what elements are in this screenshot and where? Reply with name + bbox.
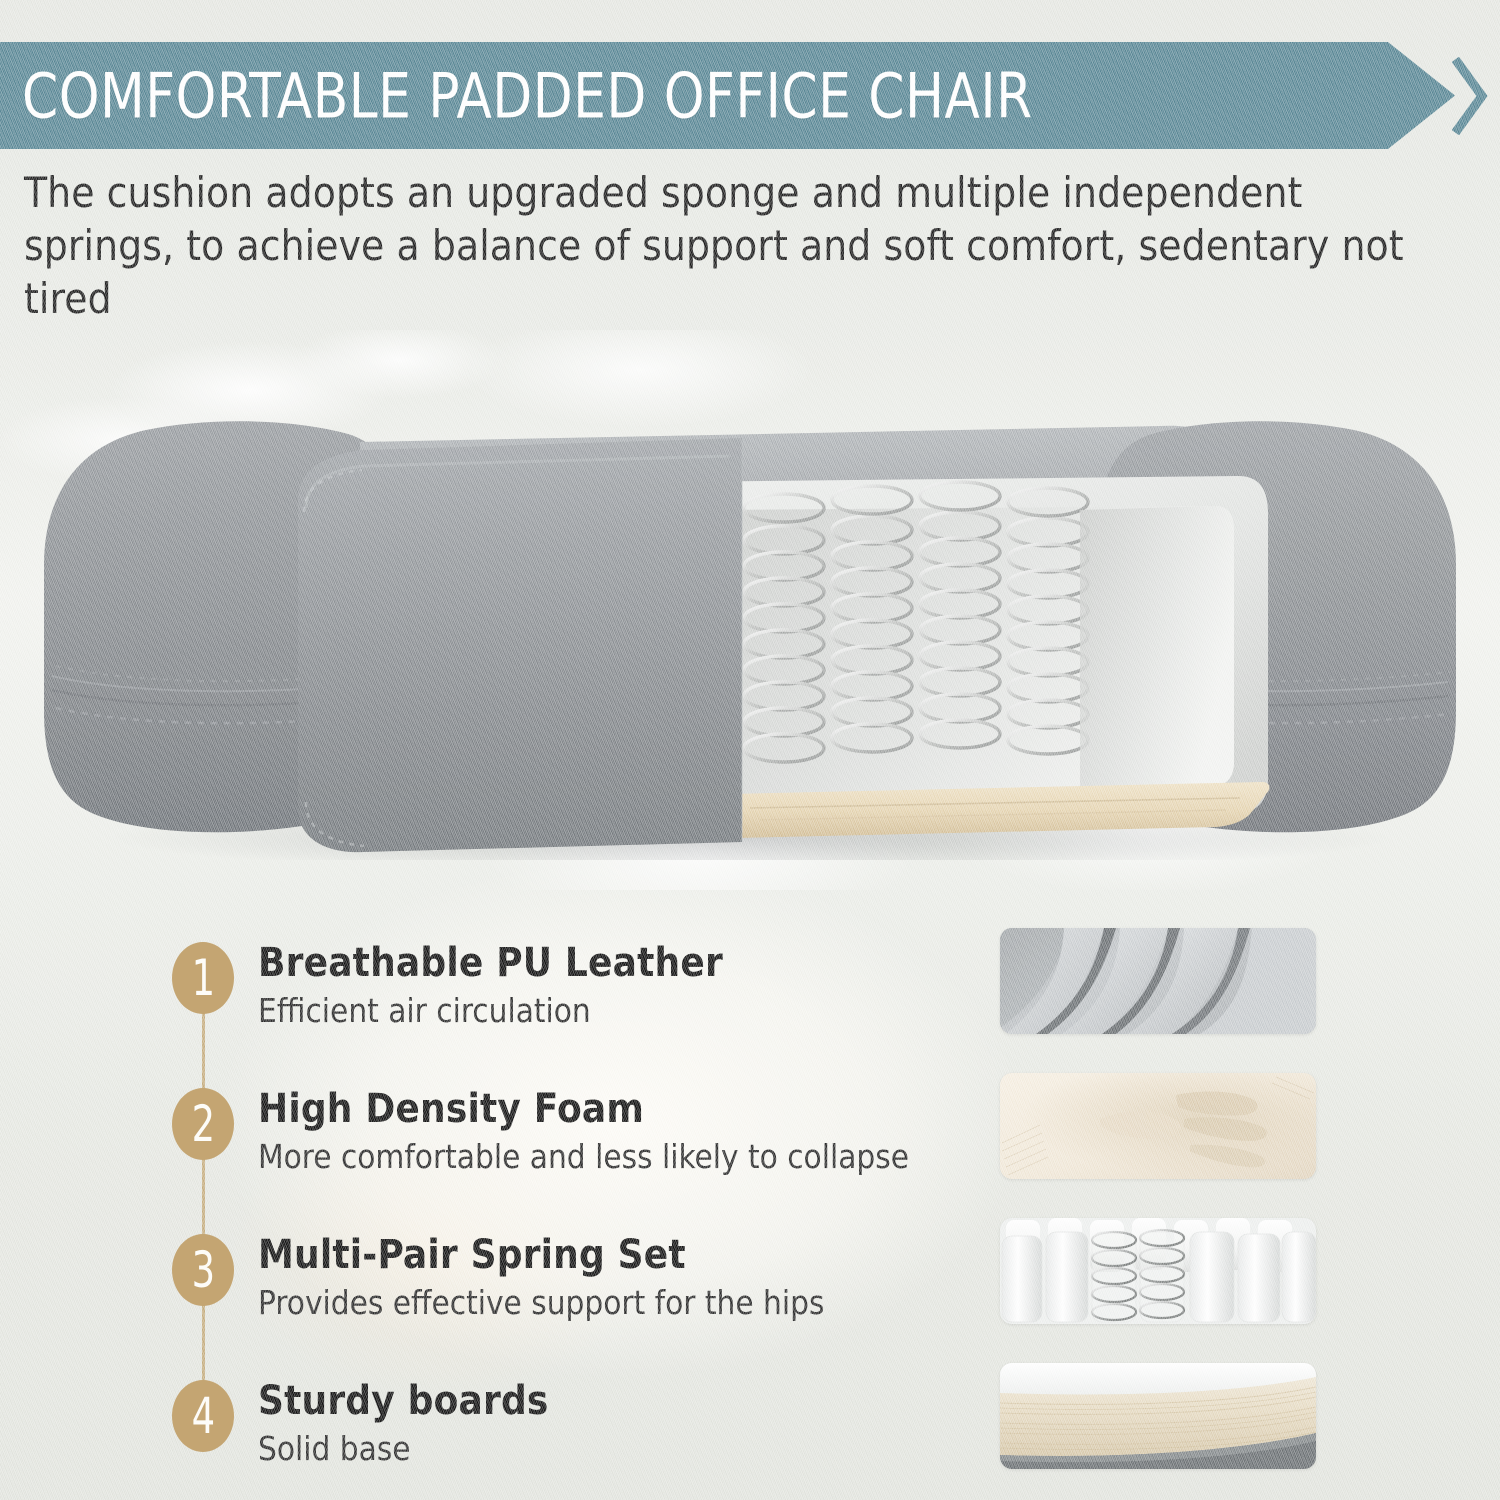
pocket-springs-thumbnail bbox=[1000, 1218, 1316, 1324]
pu-leather-folds-thumbnail bbox=[1000, 928, 1316, 1034]
feature-title: High Density Foam bbox=[258, 1086, 909, 1132]
feature-number: 3 bbox=[191, 1245, 214, 1295]
feature-item-2: 2 High Density Foam More comfortable and… bbox=[172, 1084, 962, 1230]
feature-text-block: Breathable PU Leather Efficient air circ… bbox=[258, 938, 723, 1030]
feature-subtitle: Solid base bbox=[258, 1430, 549, 1468]
feature-number: 4 bbox=[191, 1391, 214, 1441]
feature-subtitle: Provides effective support for the hips bbox=[258, 1284, 824, 1322]
feature-number-badge: 1 bbox=[172, 942, 234, 1014]
feature-item-1: 1 Breathable PU Leather Efficient air ci… bbox=[172, 938, 962, 1084]
feature-number: 1 bbox=[191, 953, 214, 1003]
hero-product-section bbox=[0, 330, 1500, 890]
feature-number-badge: 4 bbox=[172, 1380, 234, 1452]
feature-subtitle: Efficient air circulation bbox=[258, 992, 723, 1030]
feature-text-block: Sturdy boards Solid base bbox=[258, 1376, 549, 1468]
feature-text-block: High Density Foam More comfortable and l… bbox=[258, 1084, 909, 1176]
double-chevron-right-icon bbox=[1452, 57, 1492, 135]
infographic-page: COMFORTABLE PADDED OFFICE CHAIR The cush… bbox=[0, 0, 1500, 1500]
feature-subtitle: More comfortable and less likely to coll… bbox=[258, 1138, 909, 1176]
feature-number: 2 bbox=[191, 1099, 214, 1149]
seat-cushion-illustration bbox=[30, 390, 1470, 860]
feature-title: Sturdy boards bbox=[258, 1378, 549, 1424]
feature-title: Multi-Pair Spring Set bbox=[258, 1232, 824, 1278]
feature-text-block: Multi-Pair Spring Set Provides effective… bbox=[258, 1230, 824, 1322]
feature-number-badge: 2 bbox=[172, 1088, 234, 1160]
thumbnail-column bbox=[1000, 928, 1318, 1469]
feature-item-3: 3 Multi-Pair Spring Set Provides effecti… bbox=[172, 1230, 962, 1376]
foam-hand-press-thumbnail bbox=[1000, 1073, 1316, 1179]
feature-item-4: 4 Sturdy boards Solid base bbox=[172, 1376, 962, 1500]
feature-number-badge: 3 bbox=[172, 1234, 234, 1306]
header-banner: COMFORTABLE PADDED OFFICE CHAIR bbox=[0, 42, 1500, 149]
page-title: COMFORTABLE PADDED OFFICE CHAIR bbox=[22, 59, 1033, 132]
subtitle-paragraph: The cushion adopts an upgraded sponge an… bbox=[24, 166, 1429, 325]
feature-title: Breathable PU Leather bbox=[258, 940, 723, 986]
feature-list: 1 Breathable PU Leather Efficient air ci… bbox=[172, 938, 962, 1500]
wood-board-thumbnail bbox=[1000, 1363, 1316, 1469]
